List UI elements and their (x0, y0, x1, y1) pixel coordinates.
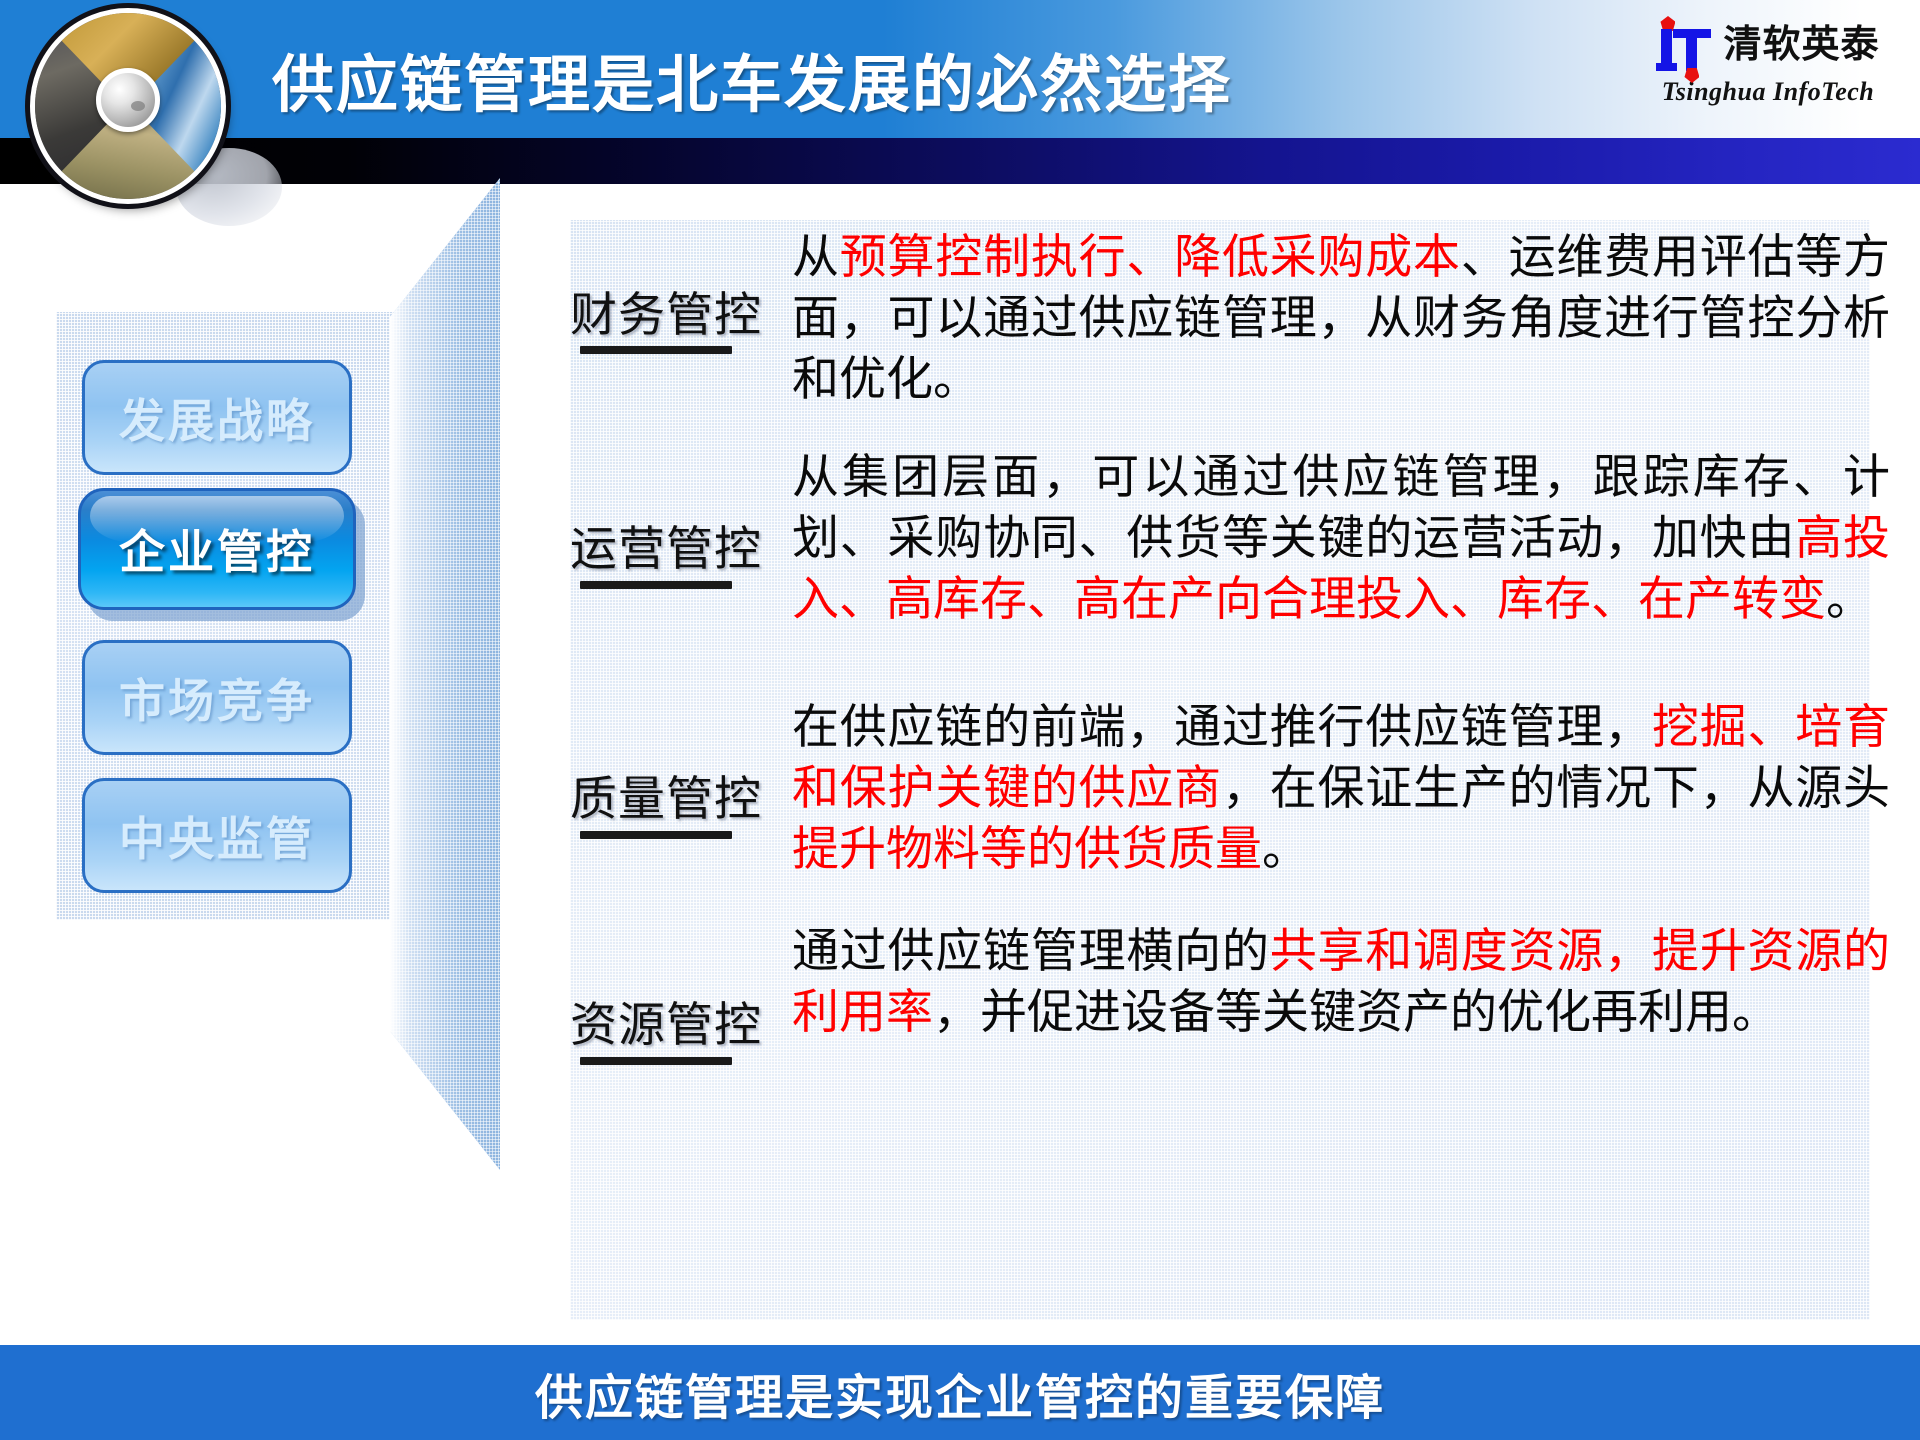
monogram-i-stem (1661, 29, 1672, 63)
company-photo-disc-icon (30, 8, 226, 204)
row-label-text: 质量管控 (570, 774, 762, 826)
sidebar-item-label: 企业管控 (119, 516, 315, 582)
row-label-text: 运营管控 (570, 524, 762, 576)
body-text: 从 (792, 232, 840, 284)
brand-name-english: Tsinghua InfoTech (1644, 77, 1892, 107)
arrow-connector-texture (390, 178, 500, 1170)
body-text: 通过供应链管理横向的 (792, 926, 1270, 978)
body-text: ，在保证生产的情况下，从源头 (1222, 763, 1890, 815)
header-dark-band (0, 138, 1920, 184)
row-text-financial-control: 从预算控制执行、降低采购成本、运维费用评估等方面，可以通过供应链管理，从财务角度… (792, 228, 1890, 411)
row-label-resource-control: 资源管控 (560, 922, 792, 1055)
sidebar-item-label: 市场竞争 (119, 665, 315, 731)
monogram-i-base (1656, 63, 1677, 71)
highlighted-text: 预算控制执行、降低采购成本 (840, 232, 1461, 284)
page-title: 供应链管理是北车发展的必然选择 (272, 34, 1232, 124)
disc-center-sphere-icon (96, 68, 160, 132)
content-row: 运营管控 从集团层面，可以通过供应链管理，跟踪库存、计划、采购协同、供货等关键的… (560, 448, 1890, 631)
body-text: 。 (1826, 574, 1873, 626)
row-label-text: 资源管控 (570, 1000, 762, 1052)
highlighted-text: 提升物料等的供货质量 (792, 824, 1262, 876)
row-label-financial-control: 财务管控 (560, 228, 792, 345)
footer-text: 供应链管理是实现企业管控的重要保障 (535, 1358, 1385, 1428)
row-text-resource-control: 通过供应链管理横向的共享和调度资源，提升资源的利用率，并促进设备等关键资产的优化… (792, 922, 1890, 1044)
body-text: 。 (1262, 824, 1309, 876)
content-row: 资源管控 通过供应链管理横向的共享和调度资源，提升资源的利用率，并促进设备等关键… (560, 922, 1890, 1055)
row-label-underline (580, 581, 732, 589)
row-text-quality-control: 在供应链的前端，通过推行供应链管理，挖掘、培育和保护关键的供应商，在保证生产的情… (792, 698, 1890, 881)
sidebar-item-enterprise-control[interactable]: 企业管控 (78, 488, 356, 610)
row-label-text: 财务管控 (570, 290, 762, 342)
row-text-operations-control: 从集团层面，可以通过供应链管理，跟踪库存、计划、采购协同、供货等关键的运营活动，… (792, 448, 1890, 631)
row-label-operations-control: 运营管控 (560, 448, 792, 579)
content-row: 质量管控 在供应链的前端，通过推行供应链管理，挖掘、培育和保护关键的供应商，在保… (560, 698, 1890, 881)
row-label-underline (580, 831, 732, 839)
body-text: 在供应链的前端，通过推行供应链管理， (792, 702, 1652, 754)
row-label-quality-control: 质量管控 (560, 698, 792, 829)
it-monogram-icon (1656, 16, 1714, 74)
row-label-underline (580, 1057, 732, 1065)
sidebar-item-central-supervision[interactable]: 中央监管 (82, 778, 352, 893)
sidebar-item-label: 发展战略 (119, 385, 315, 451)
slide-root: 供应链管理是北车发展的必然选择 清软英泰 Tsinghua InfoTech 发… (0, 0, 1920, 1440)
row-label-underline (580, 346, 732, 354)
body-text: 从集团层面，可以通过供应链管理，跟踪库存、计划、采购协同、供货等关键的运营活动，… (792, 452, 1890, 565)
sidebar-item-development-strategy[interactable]: 发展战略 (82, 360, 352, 475)
brand-logo: 清软英泰 Tsinghua InfoTech (1644, 14, 1892, 118)
body-text: ，并促进设备等关键资产的优化再利用。 (933, 987, 1779, 1039)
content-rows: 财务管控 从预算控制执行、降低采购成本、运维费用评估等方面，可以通过供应链管理，… (560, 228, 1890, 1318)
monogram-t-stem (1686, 29, 1697, 71)
sidebar-item-market-competition[interactable]: 市场竞争 (82, 640, 352, 755)
sidebar-item-label: 中央监管 (119, 803, 315, 869)
footer-banner: 供应链管理是实现企业管控的重要保障 (0, 1345, 1920, 1440)
content-row: 财务管控 从预算控制执行、降低采购成本、运维费用评估等方面，可以通过供应链管理，… (560, 228, 1890, 411)
brand-name-chinese: 清软英泰 (1723, 26, 1879, 64)
